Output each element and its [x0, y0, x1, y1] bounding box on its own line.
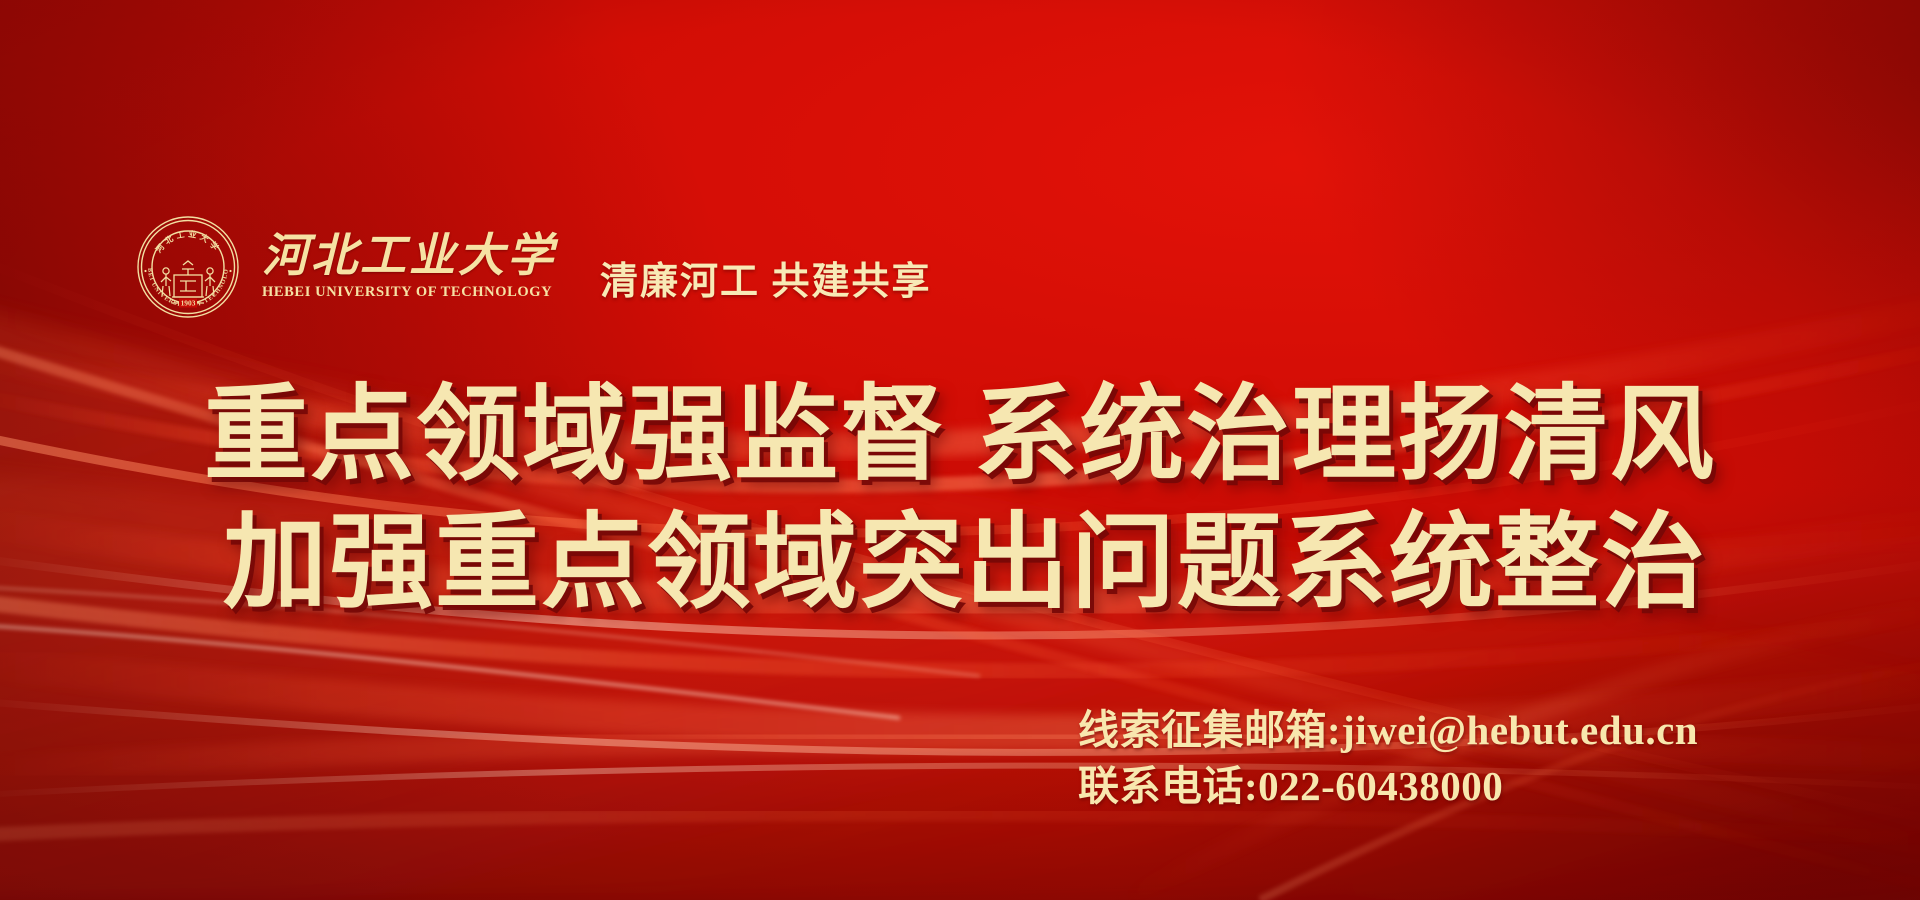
campaign-slogan: 清廉河工 共建共享: [600, 250, 932, 319]
headline-line-1: 重点领域强监督 系统治理扬清风: [0, 372, 1920, 500]
svg-text:河北工业大学: 河北工业大学: [153, 229, 223, 256]
banner-header: HEBEI UNIVERSITY OF TECHNOLOGY 河北工业大学: [136, 215, 932, 319]
university-name-cn: 河北工业大学: [262, 233, 556, 280]
propaganda-banner: HEBEI UNIVERSITY OF TECHNOLOGY 河北工业大学: [0, 0, 1920, 900]
headline-block: 重点领域强监督 系统治理扬清风 加强重点领域突出问题系统整治: [0, 372, 1920, 628]
university-seal-icon: HEBEI UNIVERSITY OF TECHNOLOGY 河北工业大学: [136, 215, 240, 319]
report-phone-line: 联系电话:022-60438000: [1078, 758, 1698, 814]
headline-line-2: 加强重点领域突出问题系统整治: [0, 500, 1920, 628]
contact-block: 线索征集邮箱:jiwei@hebut.edu.cn 联系电话:022-60438…: [1078, 702, 1698, 814]
report-email-line: 线索征集邮箱:jiwei@hebut.edu.cn: [1078, 702, 1698, 758]
university-name-en: HEBEI UNIVERSITY OF TECHNOLOGY: [262, 284, 556, 301]
university-name-block: 河北工业大学 HEBEI UNIVERSITY OF TECHNOLOGY: [262, 233, 556, 301]
svg-text:1903: 1903: [181, 299, 196, 308]
